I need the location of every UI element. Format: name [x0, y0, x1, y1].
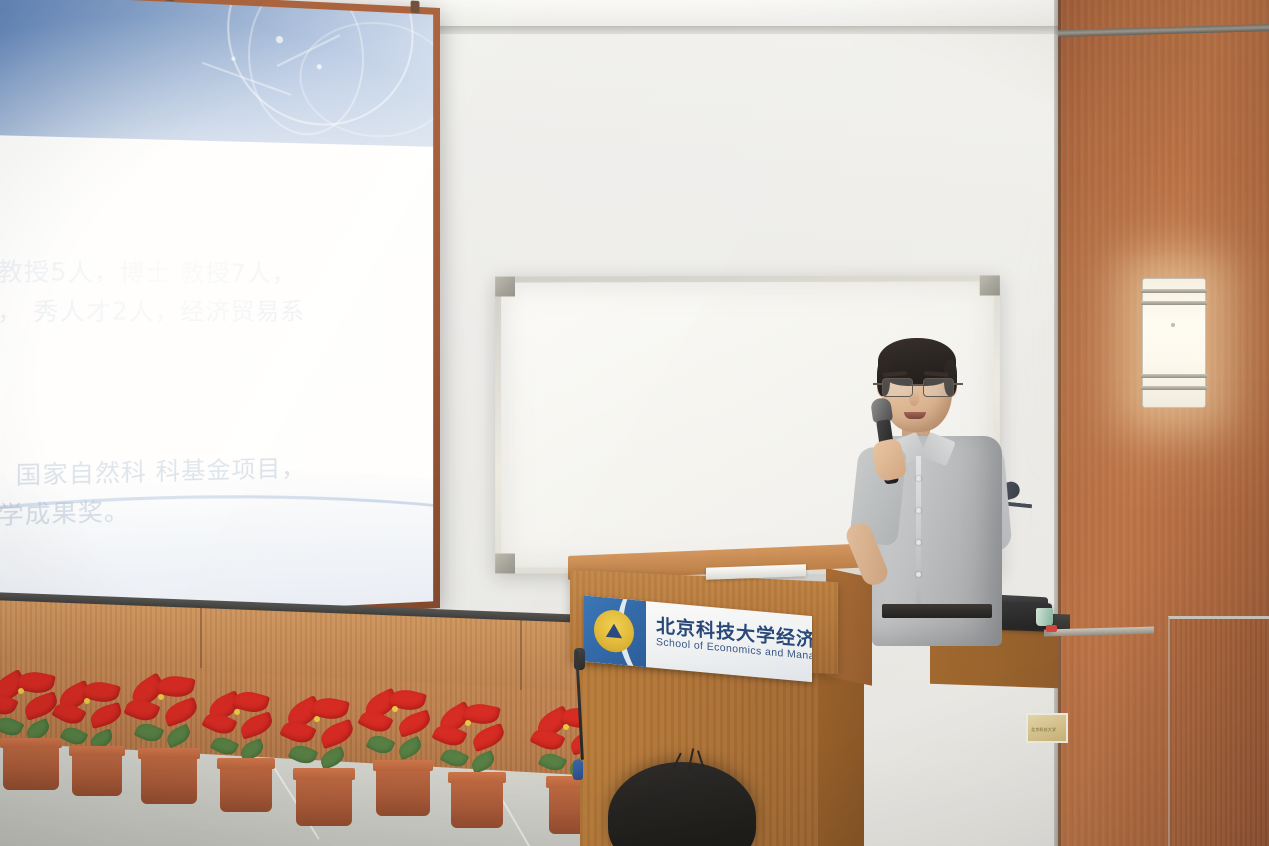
slide-paragraph-1: 贸易系有专职教师17人，其中教授5人，博士 教授7人，讲师5人。北京市教学名师1…: [0, 250, 318, 376]
sconce-band: [1141, 374, 1207, 378]
header-sparkle: [231, 57, 235, 61]
leaf: [0, 713, 24, 740]
sconce-band: [1141, 301, 1207, 305]
petal: [238, 711, 275, 739]
projection-screen: 管理学院 简介 贸易系有专职教师17人，其中教授5人，博士 教授7人，讲师5人。…: [0, 0, 440, 645]
glasses-temple-left: [873, 383, 882, 385]
whiteboard-corner: [495, 277, 515, 297]
bloom-center: [18, 688, 24, 694]
wood-partition-panel: [1168, 616, 1269, 846]
leaf: [210, 733, 239, 758]
slide-header-band: 管理学院: [0, 0, 433, 147]
shirt-button: [916, 476, 921, 481]
whiteboard-corner: [495, 553, 515, 573]
petal: [162, 697, 201, 727]
nose: [909, 390, 919, 406]
leaf: [366, 731, 396, 757]
bloom-center: [234, 709, 240, 715]
leaf: [396, 736, 424, 760]
flower-pot: [451, 772, 503, 828]
shirt-button: [916, 508, 921, 513]
leaf: [134, 719, 165, 745]
flower-pot: [376, 760, 430, 816]
petal: [470, 723, 508, 752]
wall-sconce-light: [1142, 278, 1206, 408]
screen-surface: 管理学院 简介 贸易系有专职教师17人，其中教授5人，博士 教授7人，讲师5人。…: [0, 0, 433, 637]
glasses-temple-right: [954, 383, 963, 385]
podium-front-face: ⛰ 北京科技大学经济管理学院 School of Economics and M…: [570, 570, 838, 674]
flower-pot: [296, 768, 352, 826]
leaf: [164, 724, 193, 749]
leaf: [288, 741, 319, 767]
flower-pot: [72, 746, 122, 796]
cable-connector: [573, 760, 583, 780]
whiteboard-corner: [980, 275, 1000, 295]
bloom-center: [465, 720, 471, 726]
lens-right: [923, 378, 954, 397]
belt: [882, 604, 992, 618]
leaf: [469, 750, 497, 774]
bloom-center: [314, 716, 320, 722]
mouth: [904, 412, 926, 419]
petal: [123, 695, 160, 726]
bloom-center: [158, 694, 164, 700]
petal: [279, 716, 316, 747]
header-sparkle: [317, 64, 322, 69]
petal: [318, 719, 357, 749]
plaque-label: 北京科技大学: [1031, 727, 1056, 733]
screen-mount-bracket: [411, 1, 420, 13]
potted-plant: [126, 676, 212, 826]
glasses-bridge: [911, 384, 923, 386]
flower-pot: [3, 738, 59, 790]
leaf: [318, 746, 347, 770]
drinking-cup: [1036, 608, 1053, 626]
petal: [88, 702, 124, 729]
speaker-person: [838, 336, 1028, 646]
flower-pot: [141, 748, 197, 804]
bloom-center: [84, 698, 90, 704]
leaf: [538, 750, 567, 775]
leaf: [440, 745, 469, 770]
leaf: [60, 723, 89, 748]
small-red-object: [1046, 625, 1057, 632]
stage-panel-seam: [520, 620, 522, 690]
stage-panel-seam: [200, 608, 202, 668]
sconce-band: [1141, 386, 1207, 390]
shirt-button: [916, 572, 921, 577]
presentation-slide: 管理学院 简介 贸易系有专职教师17人，其中教授5人，博士 教授7人，讲师5人。…: [0, 0, 433, 637]
header-sparkle: [276, 36, 283, 43]
petal: [396, 709, 433, 737]
lecture-hall-photo: 管理学院 简介 贸易系有专职教师17人，其中教授5人，博士 教授7人，讲师5人。…: [0, 0, 1269, 846]
podium-body-side: [818, 656, 864, 846]
wall-plaque: 北京科技大学: [1026, 713, 1068, 743]
potted-plant: [204, 694, 288, 844]
potted-plant: [280, 700, 368, 846]
potted-plant: [434, 706, 520, 846]
sconce-band: [1141, 289, 1207, 293]
shirt-button: [916, 540, 921, 545]
bloom-center: [392, 706, 398, 712]
flower-pot: [220, 758, 272, 812]
sconce-screw: [1171, 323, 1175, 327]
slide-body: 简介 贸易系有专职教师17人，其中教授5人，博士 教授7人，讲师5人。北京市教学…: [0, 127, 433, 637]
screen-frame: 管理学院 简介 贸易系有专职教师17人，其中教授5人，博士 教授7人，讲师5人。…: [0, 0, 440, 645]
logo-mark-glyph: ⛰: [606, 621, 622, 641]
